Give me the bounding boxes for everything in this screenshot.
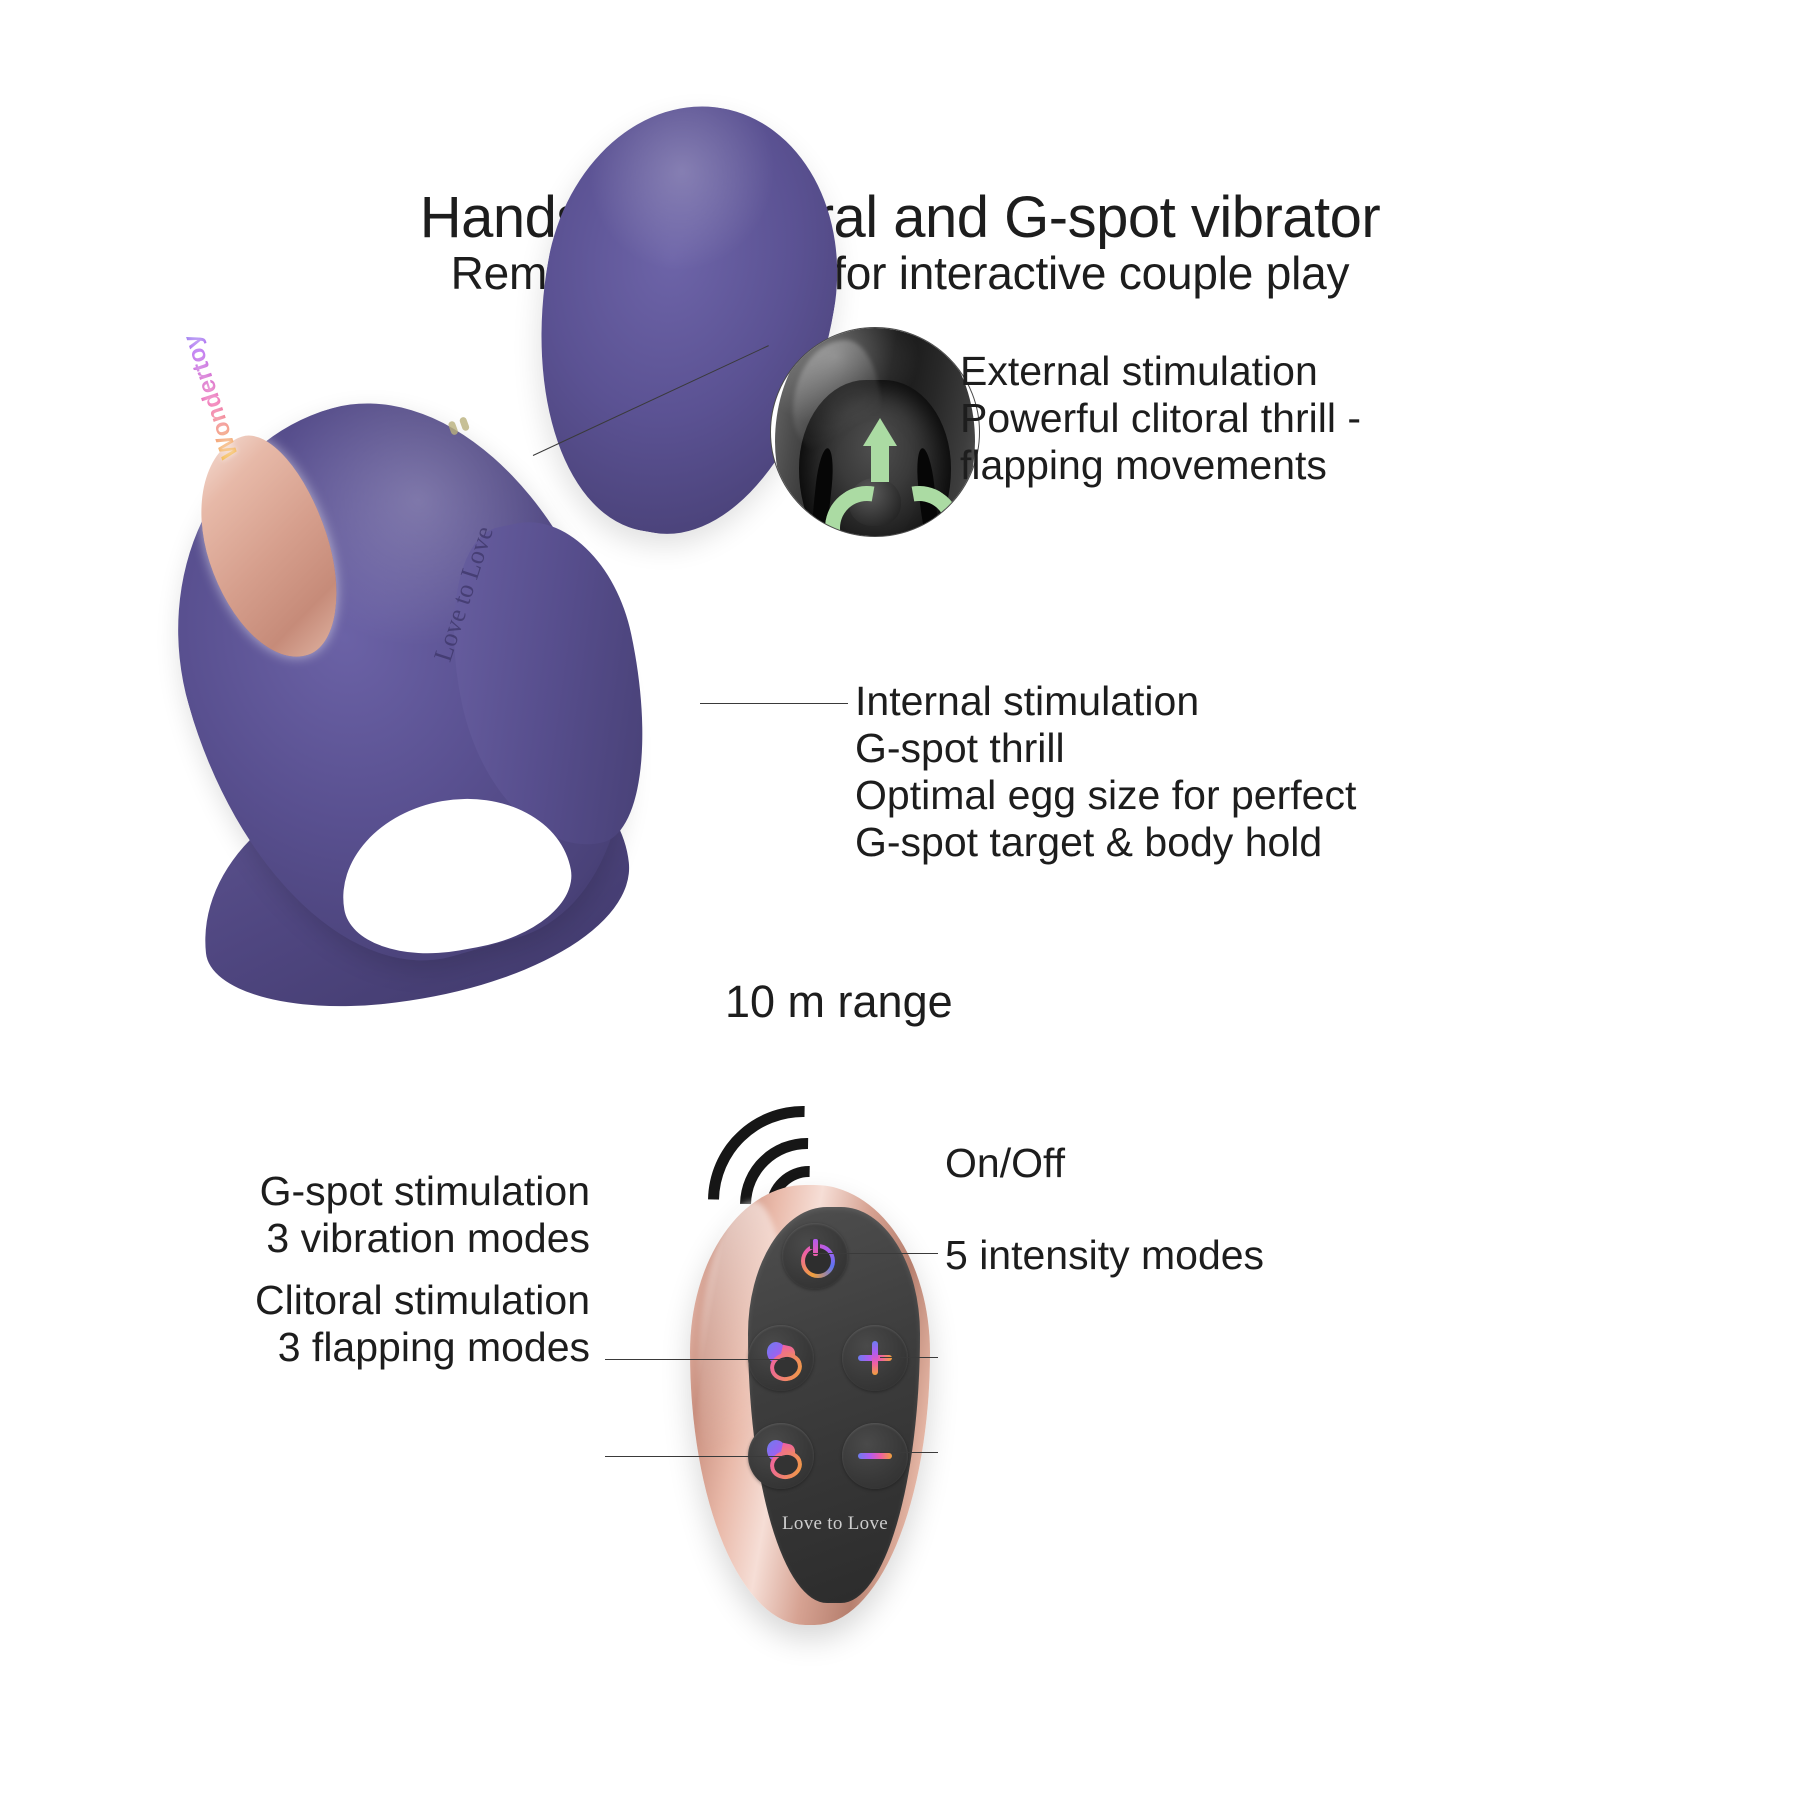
power-icon [798,1239,832,1273]
minus-icon [858,1439,892,1473]
leader-line-clitoral [605,1456,785,1457]
leader-line-intensity-plus [880,1357,938,1358]
curved-arrow-right-tip-icon [913,534,933,537]
callout-clitoral-modes: Clitoral stimulation 3 flapping modes [150,1277,590,1371]
callout-on-off: On/Off [945,1140,1245,1187]
leader-line-onoff [808,1253,938,1254]
intensity-up-button[interactable] [842,1325,908,1391]
callout-external-stimulation: External stimulation Powerful clitoral t… [960,348,1430,489]
callout-internal-stimulation: Internal stimulation G-spot thrill Optim… [855,678,1415,866]
callout-range: 10 m range [725,978,1025,1025]
gspot-toy-icon [764,1341,798,1375]
remote-control[interactable]: Love to Love [690,1185,930,1625]
leader-line-intensity-minus [880,1452,938,1453]
power-button[interactable] [782,1223,848,1289]
callout-intensity-modes: 5 intensity modes [945,1232,1345,1279]
page-subtitle: Remote controlled for interactive couple… [0,245,1800,301]
leader-line-gspot [605,1359,785,1360]
leader-line-internal [700,703,848,704]
external-stimulation-inset [770,327,980,537]
remote-brand-logo: Love to Love [766,1513,904,1535]
intensity-down-button[interactable] [842,1423,908,1489]
callout-gspot-modes: G-spot stimulation 3 vibration modes [150,1168,590,1262]
brand-logo-text: Wondertoy [162,282,244,462]
plus-icon [858,1341,892,1375]
page-title: Hands free clitoral and G-spot vibrator [0,186,1800,250]
gspot-mode-button[interactable] [748,1325,814,1391]
charging-contacts-icon [447,414,476,440]
